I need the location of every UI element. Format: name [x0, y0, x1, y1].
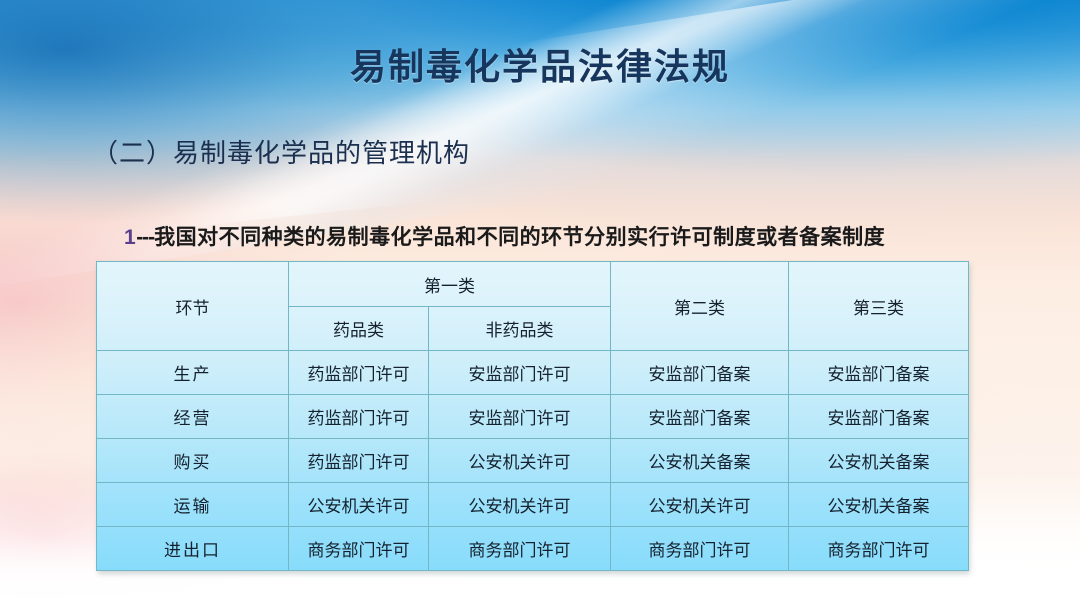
table-row: 进出口商务部门许可商务部门许可商务部门许可商务部门许可	[97, 527, 969, 571]
table-header-row-main: 环节第一类第二类第三类	[97, 262, 969, 307]
table-cell-r2-c1: 公安机关许可	[429, 439, 611, 483]
table-cell-r3-c2: 公安机关许可	[611, 483, 789, 527]
table-cell-r2-c0: 药监部门许可	[289, 439, 429, 483]
table-cell-r3-c3: 公安机关备案	[789, 483, 969, 527]
table-row: 购买药监部门许可公安机关许可公安机关备案公安机关备案	[97, 439, 969, 483]
table-cell-stage: 生产	[97, 351, 289, 395]
table-row: 生产药监部门许可安监部门许可安监部门备案安监部门备案	[97, 351, 969, 395]
table-cell-r1-c1: 安监部门许可	[429, 395, 611, 439]
table-header-cell-1: 第一类	[289, 262, 611, 307]
table-cell-r1-c3: 安监部门备案	[789, 395, 969, 439]
permission-table-body: 环节第一类第二类第三类药品类非药品类生产药监部门许可安监部门许可安监部门备案安监…	[97, 262, 969, 571]
table-cell-stage: 运输	[97, 483, 289, 527]
table-cell-r2-c3: 公安机关备案	[789, 439, 969, 483]
point-text: 我国对不同种类的易制毒化学品和不同的环节分别实行许可制度或者备案制度	[154, 225, 885, 249]
table-cell-r1-c0: 药监部门许可	[289, 395, 429, 439]
point-dashes: ---	[136, 226, 154, 249]
table-cell-r4-c2: 商务部门许可	[611, 527, 789, 571]
table-cell-r0-c1: 安监部门许可	[429, 351, 611, 395]
table-subheader-cell-drug: 药品类	[289, 307, 429, 351]
table-row: 经营药监部门许可安监部门许可安监部门备案安监部门备案	[97, 395, 969, 439]
permission-table-container: 环节第一类第二类第三类药品类非药品类生产药监部门许可安监部门许可安监部门备案安监…	[96, 261, 968, 571]
table-cell-stage: 经营	[97, 395, 289, 439]
table-cell-r2-c2: 公安机关备案	[611, 439, 789, 483]
point-number: 1	[124, 226, 136, 249]
slide-canvas: 易制毒化学品法律法规 （二）易制毒化学品的管理机构 1---我国对不同种类的易制…	[0, 0, 1080, 608]
table-header-cell-0: 环节	[97, 262, 289, 351]
table-cell-r4-c1: 商务部门许可	[429, 527, 611, 571]
table-cell-r0-c3: 安监部门备案	[789, 351, 969, 395]
table-header-cell-2: 第二类	[611, 262, 789, 351]
table-cell-r4-c0: 商务部门许可	[289, 527, 429, 571]
permission-table: 环节第一类第二类第三类药品类非药品类生产药监部门许可安监部门许可安监部门备案安监…	[96, 261, 969, 571]
table-cell-r3-c0: 公安机关许可	[289, 483, 429, 527]
section-subtitle: （二）易制毒化学品的管理机构	[92, 133, 470, 170]
background-white-streak-upper	[0, 0, 1080, 247]
table-cell-stage: 购买	[97, 439, 289, 483]
table-cell-stage: 进出口	[97, 527, 289, 571]
table-cell-r1-c2: 安监部门备案	[611, 395, 789, 439]
table-subheader-cell-nondrug: 非药品类	[429, 307, 611, 351]
point-heading: 1---我国对不同种类的易制毒化学品和不同的环节分别实行许可制度或者备案制度	[124, 221, 885, 251]
table-header-cell-3: 第三类	[789, 262, 969, 351]
page-title: 易制毒化学品法律法规	[0, 38, 1080, 90]
table-cell-r3-c1: 公安机关许可	[429, 483, 611, 527]
table-cell-r0-c0: 药监部门许可	[289, 351, 429, 395]
table-row: 运输公安机关许可公安机关许可公安机关许可公安机关备案	[97, 483, 969, 527]
table-cell-r0-c2: 安监部门备案	[611, 351, 789, 395]
table-cell-r4-c3: 商务部门许可	[789, 527, 969, 571]
